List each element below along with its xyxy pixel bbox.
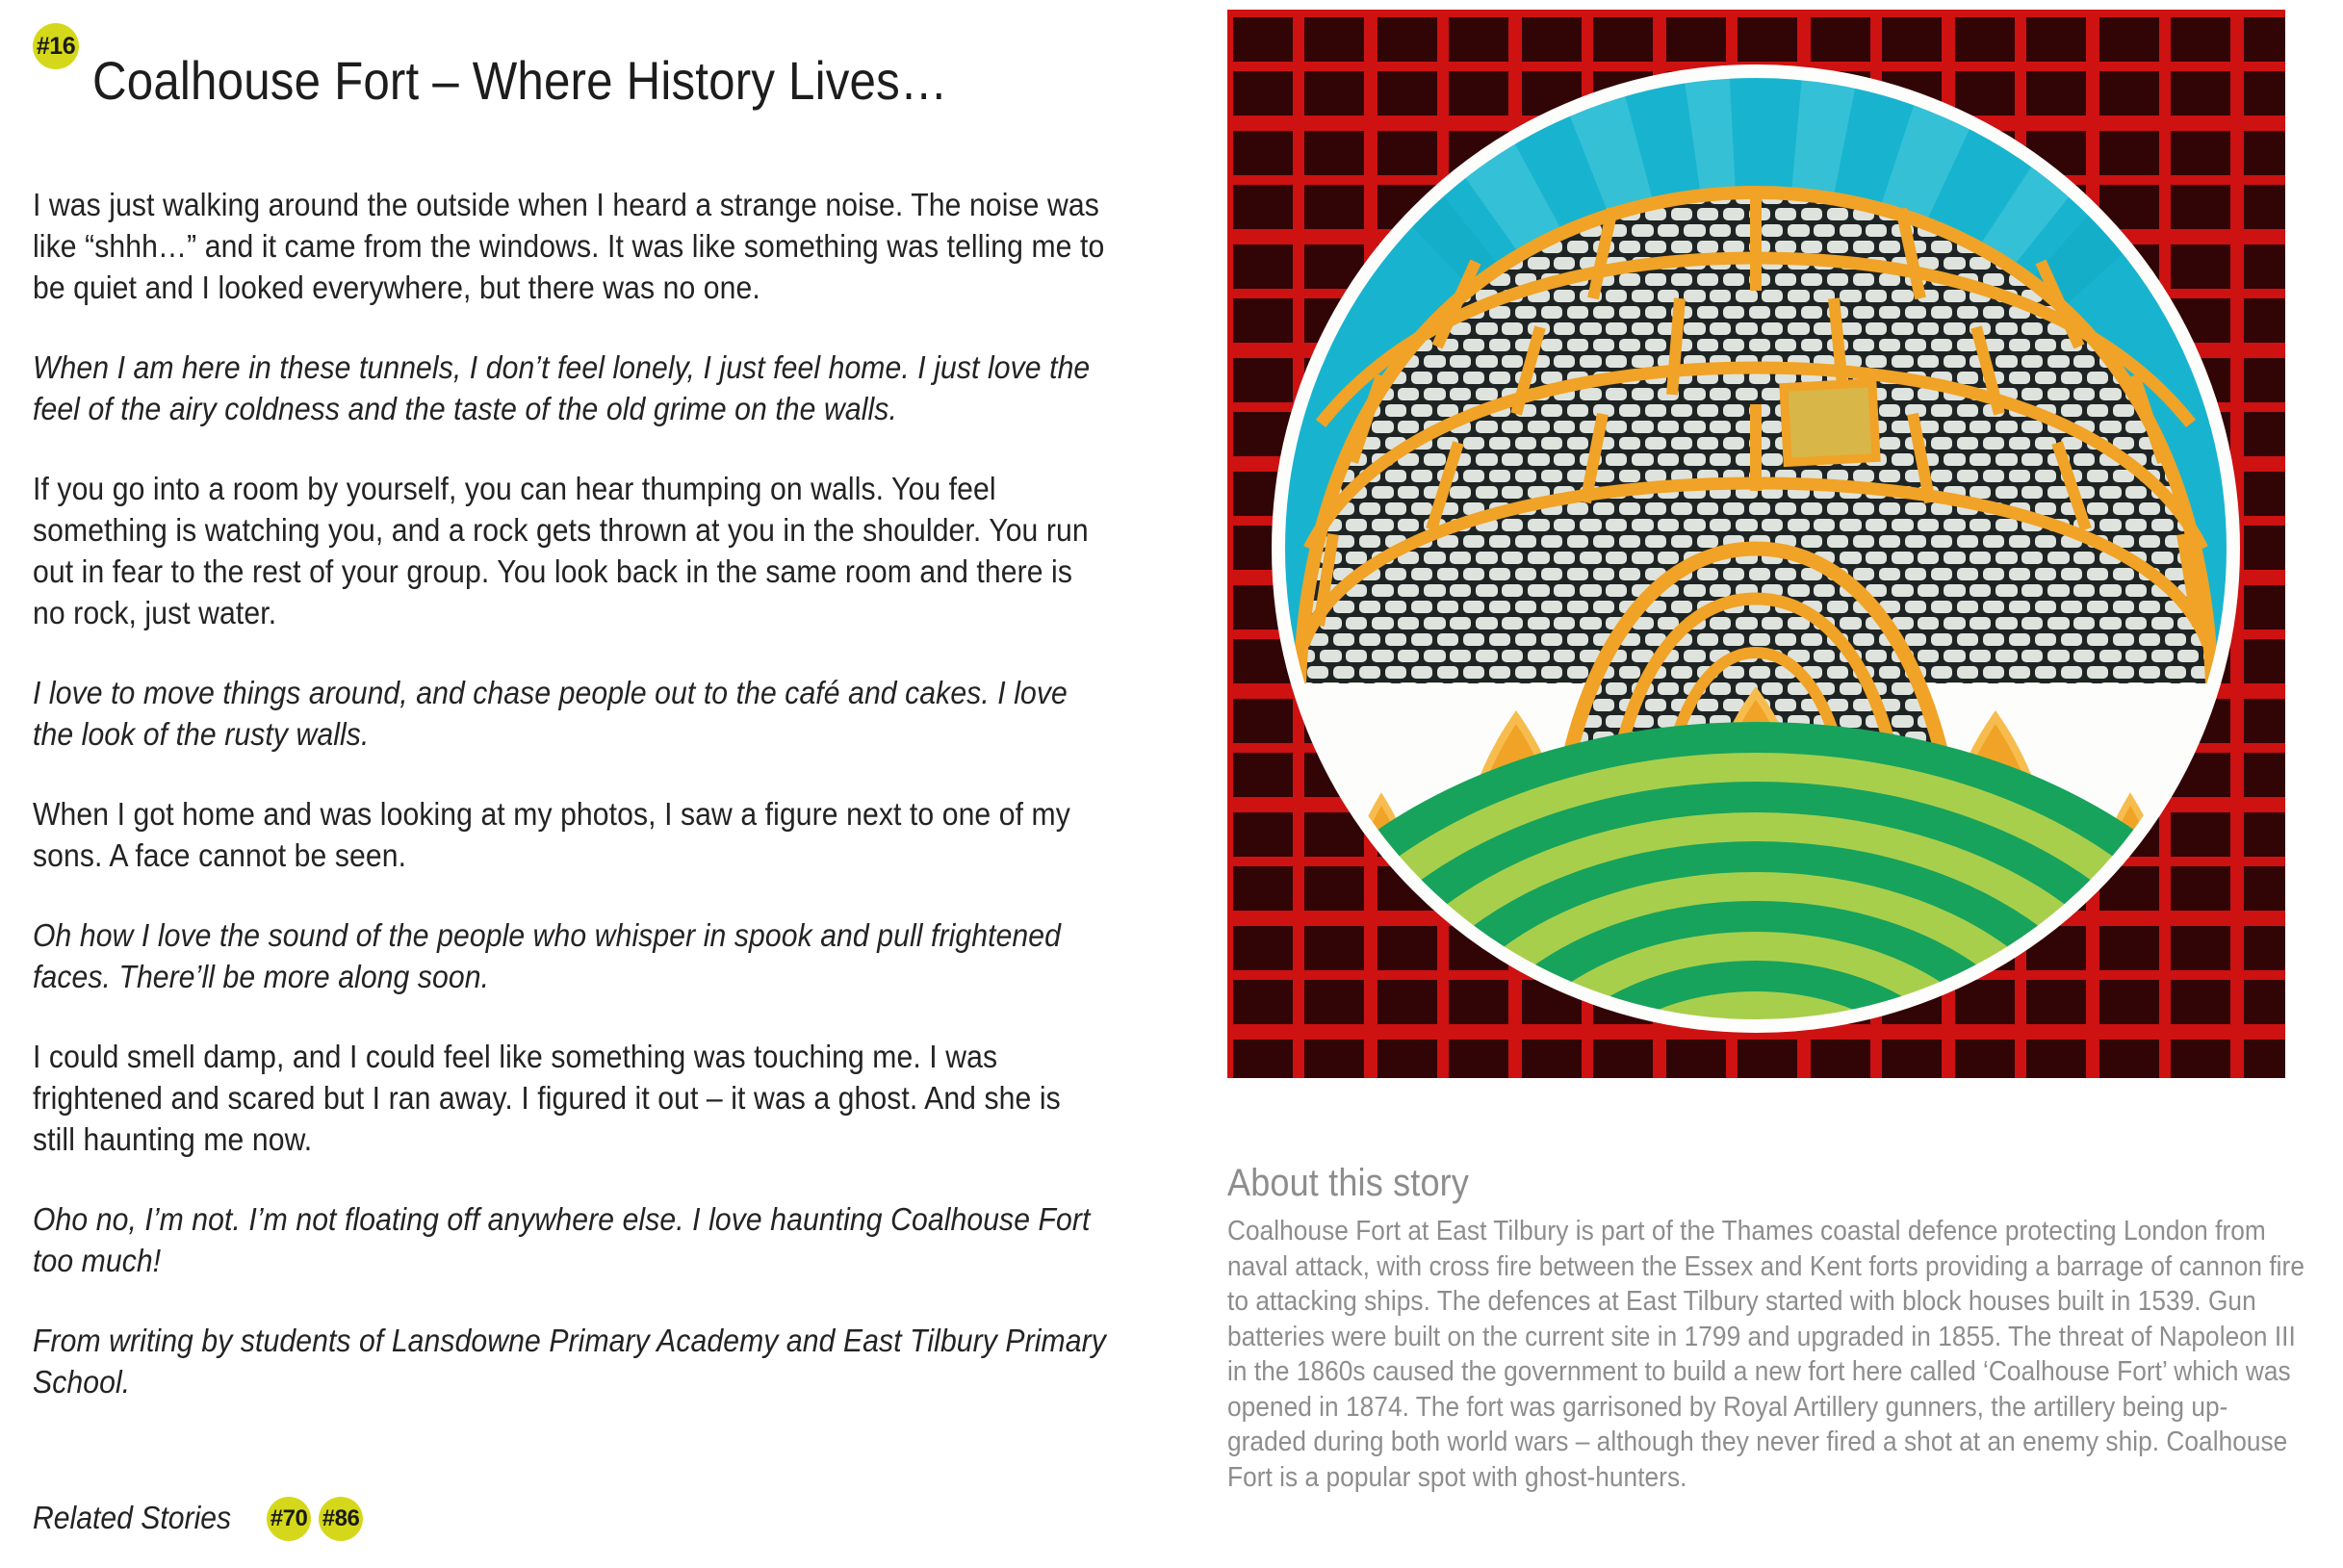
story-paragraph: When I got home and was looking at my ph… (33, 794, 1110, 877)
related-stories: Related Stories #70 #86 (33, 1497, 363, 1541)
page-header: #16 Coalhouse Fort – Where History Lives… (33, 13, 1065, 147)
story-paragraph: If you go into a room by yourself, you c… (33, 469, 1110, 634)
story-paragraph: I love to move things around, and chase … (33, 673, 1110, 756)
media-column: About this story Coalhouse Fort at East … (1227, 0, 2286, 1568)
story-paragraph: Oho no, I’m not. I’m not floating off an… (33, 1199, 1110, 1282)
story-text: I was just walking around the outside wh… (33, 185, 1111, 1403)
related-story-badge-70[interactable]: #70 (267, 1497, 311, 1541)
related-stories-label: Related Stories (33, 1501, 231, 1537)
story-column: #16 Coalhouse Fort – Where History Lives… (33, 0, 1140, 1568)
artwork-illustration (1227, 10, 2285, 1078)
story-artwork (1227, 10, 2285, 1078)
story-paragraph: When I am here in these tunnels, I don’t… (33, 347, 1110, 430)
about-heading: About this story (1227, 1160, 2198, 1206)
related-story-badge-86[interactable]: #86 (319, 1497, 363, 1541)
story-number-badge: #16 (33, 23, 79, 69)
story-paragraph: I could smell damp, and I could feel lik… (33, 1037, 1110, 1161)
story-paragraph: I was just walking around the outside wh… (33, 185, 1110, 309)
story-page: #16 Coalhouse Fort – Where History Lives… (0, 0, 2343, 1568)
about-this-story: About this story Coalhouse Fort at East … (1227, 1160, 2305, 1495)
story-credit: From writing by students of Lansdowne Pr… (33, 1321, 1110, 1403)
story-paragraph: Oh how I love the sound of the people wh… (33, 915, 1110, 998)
about-body: Coalhouse Fort at East Tilbury is part o… (1227, 1214, 2305, 1495)
page-title: Coalhouse Fort – Where History Lives… (92, 50, 947, 112)
